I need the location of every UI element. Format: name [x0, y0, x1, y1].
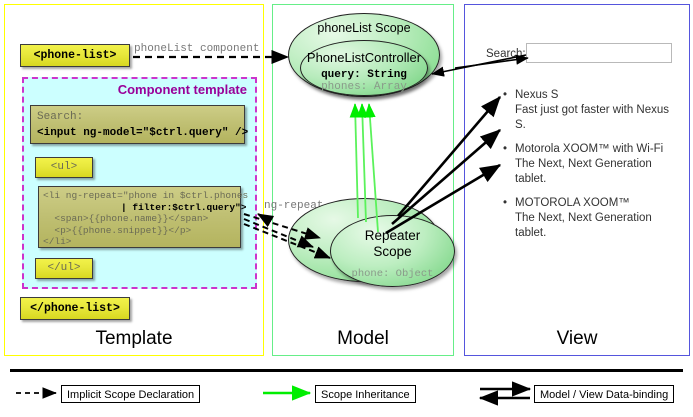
phone-snippet: The Next, Next Generation tablet.: [515, 211, 683, 241]
query-property-label: query: String: [300, 69, 428, 81]
legend-implicit-scope-declaration: Implicit Scope Declaration: [61, 385, 200, 403]
list-item: • Nexus S Fast just got faster with Nexu…: [503, 88, 683, 133]
ul-close-text: </ul>: [47, 262, 80, 274]
bullet-icon: •: [503, 88, 507, 103]
view-search-input[interactable]: [526, 43, 672, 63]
list-item: • MOTOROLA XOOM™ The Next, Next Generati…: [503, 196, 683, 241]
bullet-icon: •: [503, 142, 507, 157]
legend-model-view-data-binding: Model / View Data-binding: [534, 385, 674, 403]
bullet-icon: •: [503, 196, 507, 211]
repeater-scope-label-line2: Scope: [330, 244, 455, 259]
li-repeat-code-box: <li ng-repeat="phone in $ctrl.phones | f…: [38, 186, 241, 248]
panel-label-model: Model: [272, 328, 454, 350]
input-code-box: Search: <input ng-model="$ctrl.query" />: [30, 105, 245, 144]
view-phone-list: • Nexus S Fast just got faster with Nexu…: [503, 88, 683, 250]
phonelist-controller-label: PhoneListController: [294, 50, 434, 65]
panel-label-template: Template: [4, 328, 264, 350]
li-line2: | filter:$ctrl.query">: [121, 202, 246, 213]
li-line3: <span>{{phone.name}}</span>: [54, 213, 208, 224]
phone-name: Motorola XOOM™ with Wi-Fi: [515, 142, 683, 157]
li-line5: </li>: [43, 236, 72, 247]
phone-snippet: The Next, Next Generation tablet.: [515, 157, 683, 187]
li-line1: <li ng-repeat="phone in $ctrl.phones: [43, 190, 248, 201]
panel-label-view: View: [464, 328, 690, 350]
ul-open-text: <ul>: [51, 161, 77, 173]
phone-name: MOTOROLA XOOM™: [515, 196, 683, 211]
input-tag-text: <input ng-model="$ctrl.query" />: [37, 127, 248, 139]
phone-snippet: Fast just got faster with Nexus S.: [515, 103, 683, 133]
input-search-label-text: Search:: [37, 111, 83, 123]
repeater-scope-label-line1: Repeater: [330, 228, 455, 243]
phone-property-label: phone: Object: [330, 268, 455, 280]
phonelist-scope-label: phoneList Scope: [288, 21, 440, 35]
phone-list-open-tag-text: <phone-list>: [34, 49, 117, 62]
legend-divider: [10, 369, 683, 372]
phone-name: Nexus S: [515, 88, 683, 103]
legend-scope-inheritance: Scope Inheritance: [315, 385, 416, 403]
view-search-label: Search:: [486, 48, 526, 60]
phone-list-close-tag-text: </phone-list>: [30, 302, 120, 315]
phonelist-component-connector-label: phoneList component: [134, 43, 259, 55]
diagram-canvas: <phone-list> Component template Search: …: [0, 0, 693, 417]
phone-list-open-tag-box: <phone-list>: [20, 44, 130, 67]
list-item: • Motorola XOOM™ with Wi-Fi The Next, Ne…: [503, 142, 683, 187]
component-template-title: Component template: [118, 82, 247, 97]
phone-list-close-tag-box: </phone-list>: [20, 297, 130, 320]
ul-open-box: <ul>: [35, 157, 93, 178]
ul-close-box: </ul>: [35, 258, 93, 279]
phones-property-label: phones: Array: [300, 81, 428, 93]
li-line4: <p>{{phone.snippet}}</p>: [54, 225, 191, 236]
